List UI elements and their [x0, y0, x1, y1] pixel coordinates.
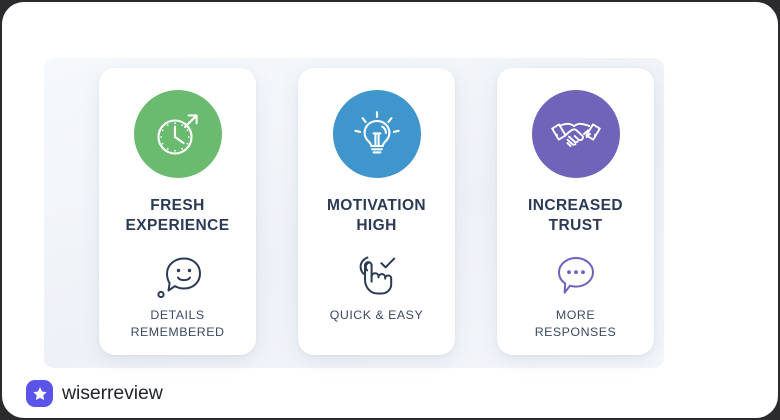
card-title-line1: FRESH — [150, 197, 205, 214]
badge-circle-green — [134, 90, 222, 178]
card-subtitle-line1: QUICK & EASY — [330, 308, 423, 322]
tap-hand-check-icon — [353, 253, 401, 299]
card-title: FRESH EXPERIENCE — [126, 196, 230, 237]
card-title-line2: EXPERIENCE — [126, 217, 230, 234]
card-title-line2: HIGH — [356, 217, 396, 234]
app-frame: FRESH EXPERIENCE DETAILS REMEMBERED — [2, 2, 778, 418]
card-subtitle: DETAILS REMEMBERED — [131, 307, 225, 340]
handshake-icon — [548, 106, 604, 162]
card-subtitle-line1: MORE — [556, 308, 595, 322]
card-subtitle-line1: DETAILS — [150, 308, 204, 322]
speech-bubble-smile-icon — [153, 253, 203, 299]
card-subtitle-line2: REMEMBERED — [131, 325, 225, 339]
screenshot-root: FRESH EXPERIENCE DETAILS REMEMBERED — [0, 0, 780, 420]
card-subtitle: MORE RESPONSES — [535, 307, 617, 340]
card-title-line1: MOTIVATION — [327, 197, 426, 214]
star-badge-icon — [26, 380, 53, 407]
brand-footer[interactable]: wiserreview — [26, 380, 163, 407]
card-title-line2: TRUST — [549, 217, 603, 234]
card-title: MOTIVATION HIGH — [327, 196, 426, 237]
card-title: INCREASED TRUST — [528, 196, 623, 237]
feature-cards-row: FRESH EXPERIENCE DETAILS REMEMBERED — [99, 68, 679, 356]
badge-circle-purple — [532, 90, 620, 178]
clock-arrow-icon — [151, 107, 205, 161]
brand-name: wiserreview — [62, 382, 163, 405]
card-subtitle: QUICK & EASY — [330, 307, 423, 324]
card-title-line1: INCREASED — [528, 197, 623, 214]
card-subtitle-line2: RESPONSES — [535, 325, 617, 339]
lightbulb-icon — [351, 108, 403, 160]
badge-circle-blue — [333, 90, 421, 178]
feature-card-increased-trust[interactable]: INCREASED TRUST MORE RESPONSES — [497, 68, 654, 355]
feature-card-motivation-high[interactable]: MOTIVATION HIGH — [298, 68, 455, 355]
feature-card-fresh-experience[interactable]: FRESH EXPERIENCE DETAILS REMEMBERED — [99, 68, 256, 355]
speech-bubble-dots-icon — [553, 253, 599, 299]
